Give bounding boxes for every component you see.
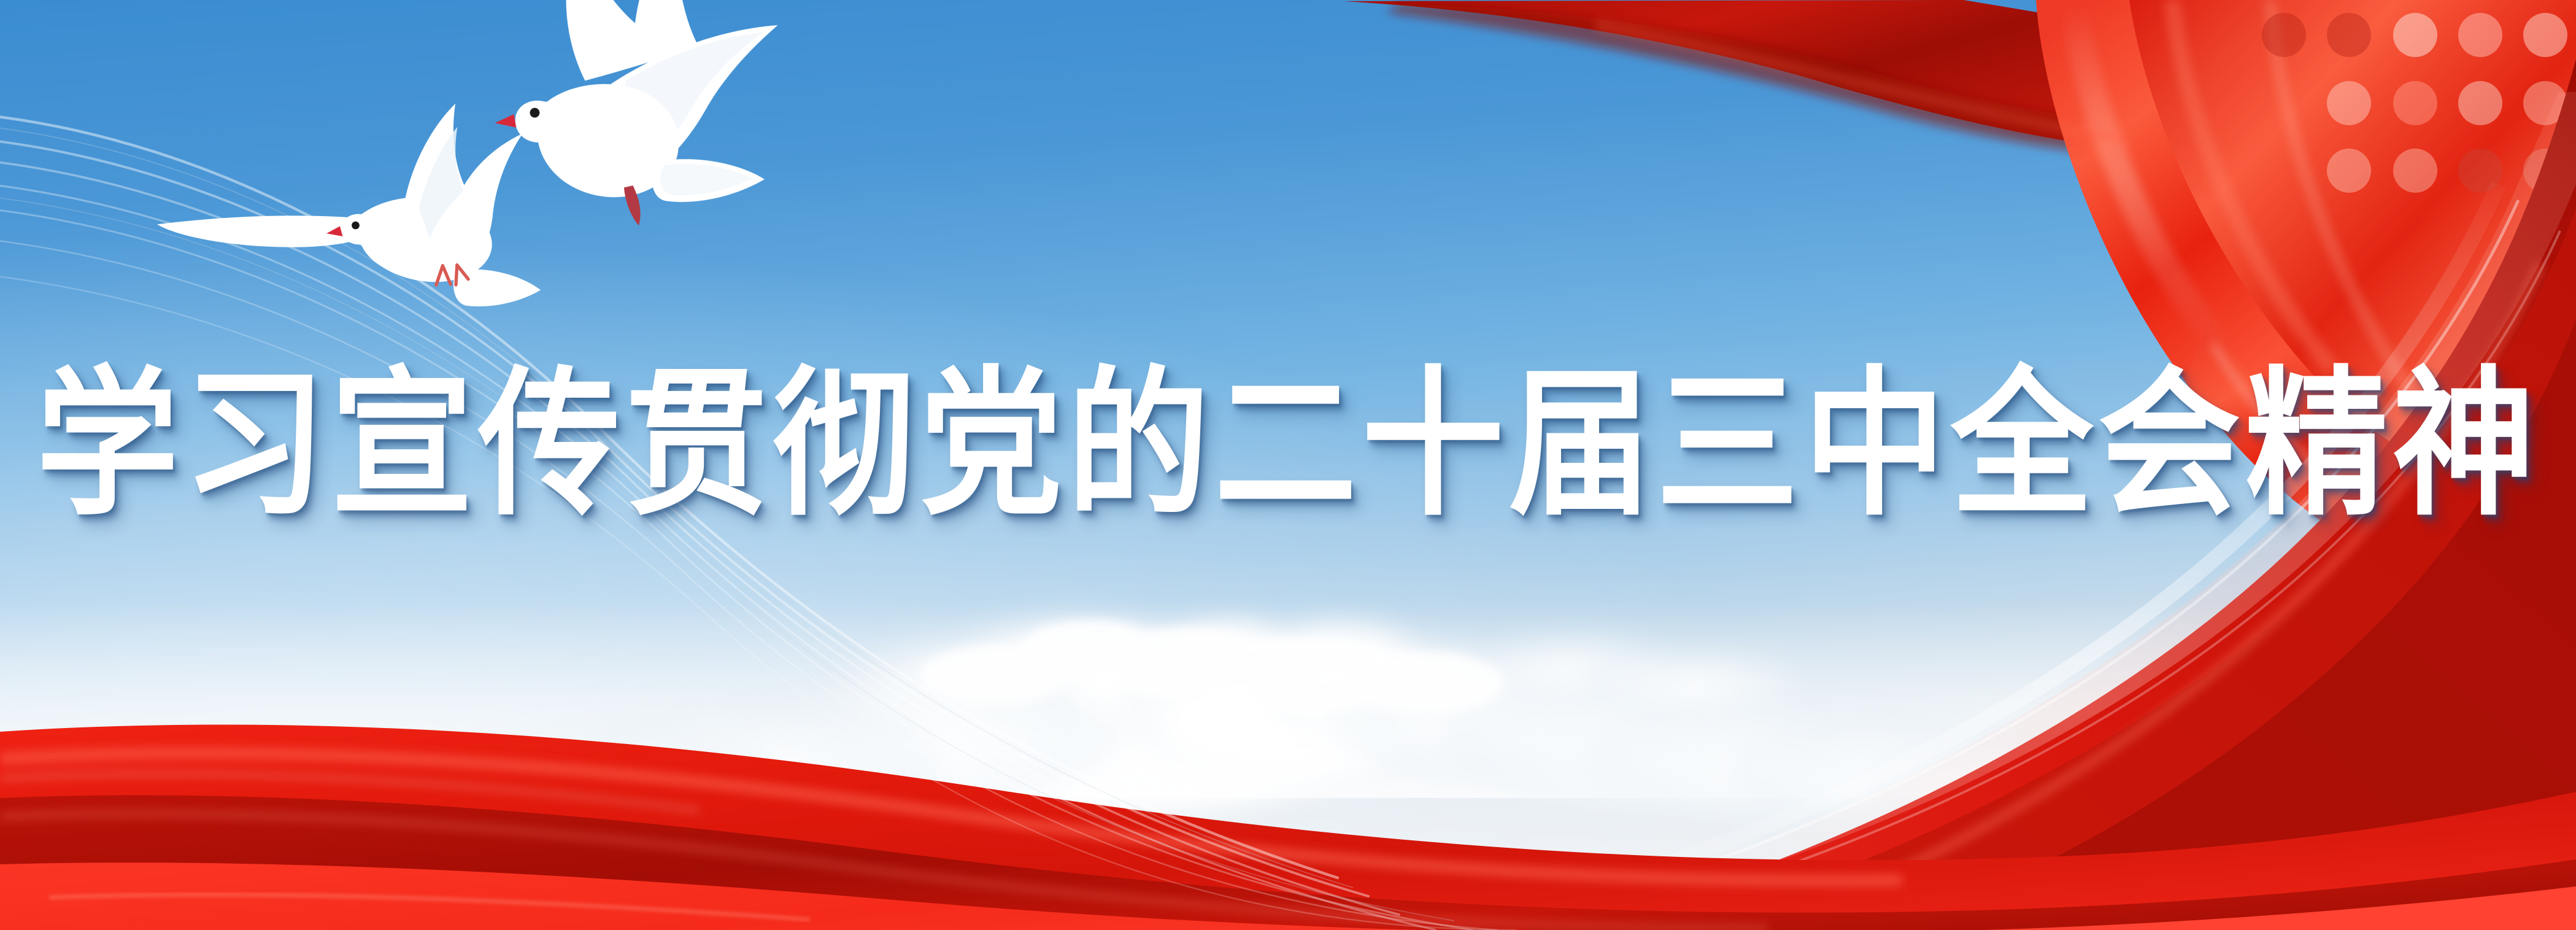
scene-artwork: [0, 0, 2576, 930]
propaganda-banner: 学习宣传贯彻党的二十届三中全会精神: [0, 0, 2576, 930]
